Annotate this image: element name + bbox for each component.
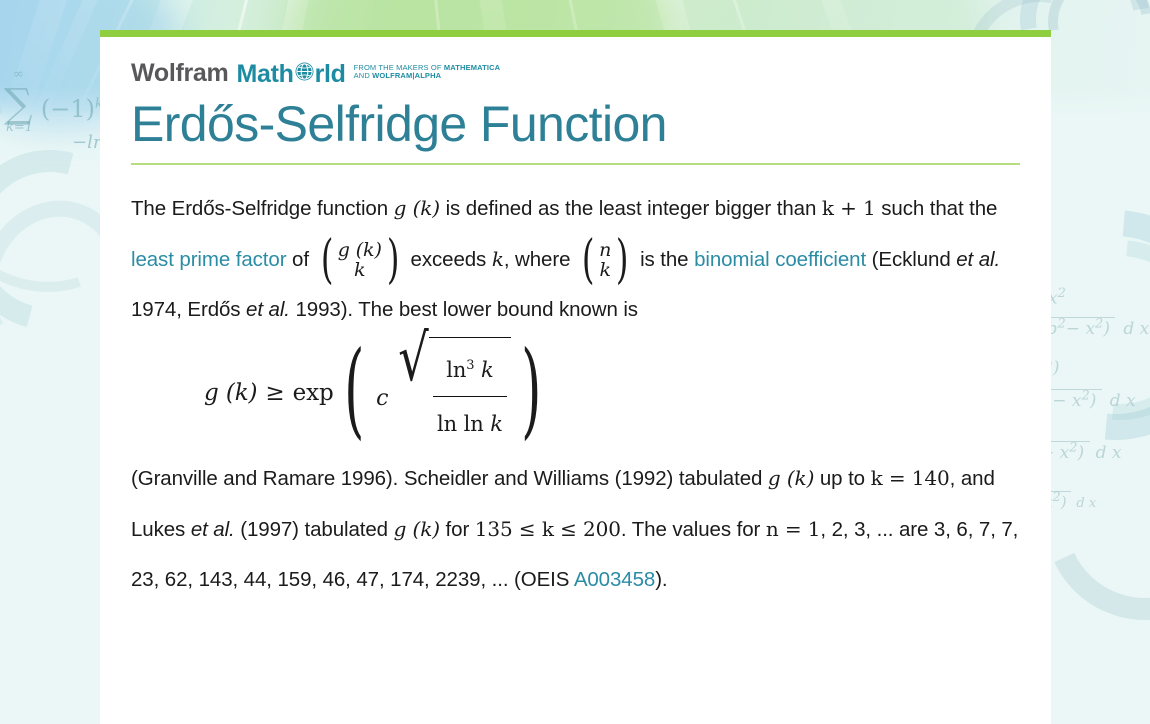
equation-fraction: ln3 k ln ln k — [433, 341, 507, 449]
watermark-frag-b: 2 — [1069, 440, 1077, 455]
page-title: Erdős-Selfridge Function — [131, 97, 1020, 151]
numerator-ln: ln — [446, 358, 466, 382]
equation-coefficient: c — [376, 374, 388, 424]
text-fragment: 1974, Erdős — [131, 298, 246, 321]
watermark-frag-c: ) — [1090, 391, 1097, 411]
link-binomial-coefficient[interactable]: binomial coefficient — [694, 248, 866, 271]
tagline-line1-bold: MATHEMATICA — [444, 63, 500, 72]
binomial-top: g (k) — [338, 241, 382, 261]
text-fragment: 1993). The best lower bound known is — [290, 298, 638, 321]
text-fragment: . The values for — [621, 518, 766, 541]
text-fragment: , where — [504, 248, 576, 271]
text-fragment: is the — [634, 248, 694, 271]
text-fragment: of — [286, 248, 314, 271]
math-g-of-k: g (k) — [768, 466, 814, 490]
math-g-of-k: g (k) — [394, 196, 440, 220]
watermark-dx: d x — [1123, 319, 1149, 339]
watermark-x-exp: 2 — [1058, 286, 1066, 301]
text-fragment: is defined as the least integer bigger t… — [440, 197, 822, 220]
watermark-minus-x: − x — [1066, 319, 1095, 339]
binomial-g-k-choose-k: (g (k)k) — [317, 241, 403, 281]
watermark-sum-lower: k=1 — [6, 120, 33, 135]
watermark-dx: d x — [1076, 496, 1096, 511]
fraction-numerator: ln3 k — [442, 341, 497, 396]
numerator-exponent: 3 — [466, 358, 474, 373]
tagline-line2-plain: AND — [354, 71, 373, 80]
paragraph-definition: The Erdős-Selfridge function g (k) is de… — [131, 183, 1020, 335]
radical-body: ln3 k ln ln k — [429, 337, 511, 449]
binomial-stack: nk — [598, 241, 612, 281]
math-g-of-k: g (k) — [394, 517, 440, 541]
equation-relation: ≥ — [265, 368, 284, 418]
binomial-stack: g (k)k — [337, 241, 383, 281]
watermark-integral-5: − x2) d x — [1040, 440, 1121, 463]
watermark-dx: d x — [1110, 391, 1136, 411]
equation-lhs: g (k) — [204, 368, 257, 418]
text-fragment: (Ecklund — [866, 248, 956, 271]
tagline-line2-bold: WOLFRAM|ALPHA — [372, 71, 441, 80]
paragraph-tabulations: (Granville and Ramare 1996). Scheidler a… — [131, 453, 1020, 605]
logo-world-rest: rld — [315, 62, 346, 87]
text-fragment: exceeds — [405, 248, 492, 271]
math-k-equals-140: k = 140 — [871, 466, 950, 490]
citation-etal: et al. — [956, 248, 1000, 271]
fraction-denominator: ln ln k — [433, 396, 507, 449]
binomial-bottom: k — [600, 261, 611, 281]
title-divider — [131, 163, 1020, 165]
watermark-sum-upper: ∞ — [13, 67, 24, 82]
binomial-top: n — [599, 241, 611, 261]
watermark-integral-2: (b2− x2) d x — [1040, 316, 1149, 339]
watermark-integral-6: x2) d x — [1044, 490, 1096, 511]
text-fragment: up to — [814, 467, 870, 490]
link-least-prime-factor[interactable]: least prime factor — [131, 248, 286, 271]
binomial-bottom: k — [354, 261, 365, 281]
watermark-frag-b: 2 — [1052, 490, 1060, 505]
math-k: k — [492, 247, 504, 271]
globe-icon — [294, 61, 315, 87]
text-fragment: for — [440, 518, 475, 541]
numerator-variable: k — [481, 358, 494, 382]
text-fragment: such that the — [876, 197, 998, 220]
equation-exp-operator: exp — [293, 368, 334, 418]
equation-square-root: √ ln3 k ln ln k — [393, 337, 511, 449]
watermark-sum-body: (−1) — [41, 95, 95, 123]
watermark-close-paren: ) — [1103, 319, 1110, 339]
display-equation: g (k) ≥ exp ( c √ ln3 k ln ln k ) — [204, 345, 1020, 441]
text-fragment: The Erdős-Selfridge function — [131, 197, 394, 220]
watermark-frag-c: ) — [1078, 443, 1085, 463]
watermark-b-exp: 2 — [1058, 316, 1066, 331]
radical-sign: √ — [398, 341, 429, 453]
text-fragment: ). — [655, 568, 667, 591]
logo-wolfram-text: Wolfram — [131, 61, 228, 86]
citation-etal: et al. — [191, 518, 235, 541]
citation-etal: et al. — [246, 298, 290, 321]
link-oeis-a003458[interactable]: A003458 — [574, 568, 655, 591]
text-fragment: (Granville and Ramare 1996). Scheidler a… — [131, 467, 768, 490]
text-fragment: (1997) tabulated — [235, 518, 394, 541]
watermark-frag-c: ) — [1061, 493, 1067, 511]
content-card: Wolfram Math rld FROM THE MAKERS OF MATH… — [100, 30, 1051, 724]
math-n-equals-1: n = 1 — [766, 517, 821, 541]
math-k-range: 135 ≤ k ≤ 200 — [475, 517, 621, 541]
article-body: The Erdős-Selfridge function g (k) is de… — [131, 183, 1020, 605]
binomial-n-choose-k: (nk) — [578, 241, 633, 281]
logo-mathworld-text: Math rld — [236, 61, 345, 87]
site-logo[interactable]: Wolfram Math rld FROM THE MAKERS OF MATH… — [131, 61, 1020, 87]
logo-math-word: Math — [236, 62, 293, 87]
watermark-dx: d x — [1096, 443, 1122, 463]
logo-tagline: FROM THE MAKERS OF MATHEMATICA AND WOLFR… — [354, 64, 501, 81]
math-k-plus-1: k + 1 — [822, 196, 876, 220]
watermark-frag-b: 2 — [1081, 388, 1089, 403]
